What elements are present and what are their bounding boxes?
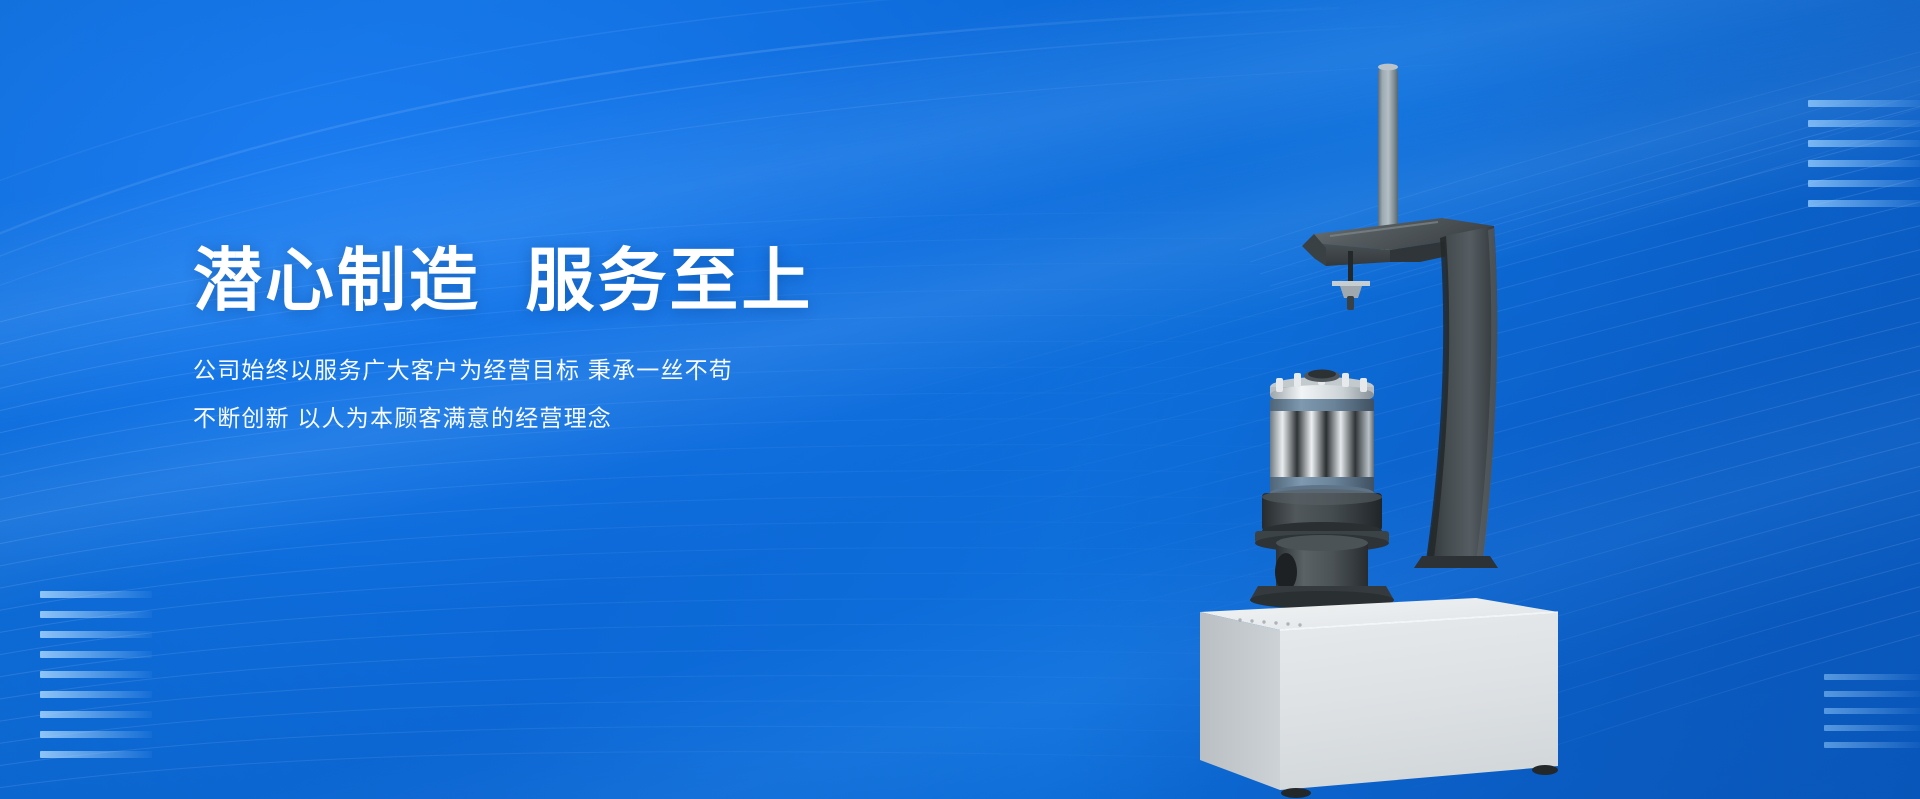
decor-bar — [40, 691, 152, 698]
decor-bar — [1824, 725, 1920, 731]
page-title: 潜心制造 服务至上 — [193, 246, 1013, 316]
decor-bar — [1824, 708, 1920, 714]
finned-cylinder-head — [1270, 370, 1374, 502]
hero-subtitle: 公司始终以服务广大客户为经营目标 秉承一丝不苟 不断创新 以人为本顾客满意的经营… — [193, 359, 1013, 430]
decor-bar — [40, 751, 152, 758]
decor-bar — [1808, 180, 1920, 187]
decor-bar — [1808, 160, 1920, 167]
curved-column — [1390, 226, 1498, 568]
decor-bar — [1824, 742, 1920, 748]
subtitle-line: 公司始终以服务广大客户为经营目标 秉承一丝不苟 — [193, 359, 1013, 382]
decor-bar — [40, 711, 152, 718]
decor-bar — [40, 591, 152, 598]
decor-bar — [40, 631, 152, 638]
product-image — [1090, 0, 1650, 799]
decor-bars-right — [1808, 100, 1920, 220]
decor-bar — [1824, 691, 1920, 697]
hero-banner: 潜心制造 服务至上 公司始终以服务广大客户为经营目标 秉承一丝不苟 不断创新 以… — [0, 0, 1920, 799]
decor-bar — [1824, 674, 1920, 680]
cabinet — [1200, 598, 1558, 790]
decor-bar — [40, 651, 152, 658]
decor-bar — [40, 731, 152, 738]
decor-bar — [1808, 100, 1920, 107]
subtitle-line: 不断创新 以人为本顾客满意的经营理念 — [193, 407, 1013, 430]
decor-bar — [1808, 120, 1920, 127]
decor-bar — [40, 671, 152, 678]
decor-bar — [40, 611, 152, 618]
decor-bars-right-lower — [1824, 674, 1920, 759]
decor-bar — [1808, 140, 1920, 147]
decor-bars-left — [40, 591, 152, 771]
hero-copy: 潜心制造 服务至上 公司始终以服务广大客户为经营目标 秉承一丝不苟 不断创新 以… — [193, 246, 1013, 430]
decor-bar — [1808, 200, 1920, 207]
